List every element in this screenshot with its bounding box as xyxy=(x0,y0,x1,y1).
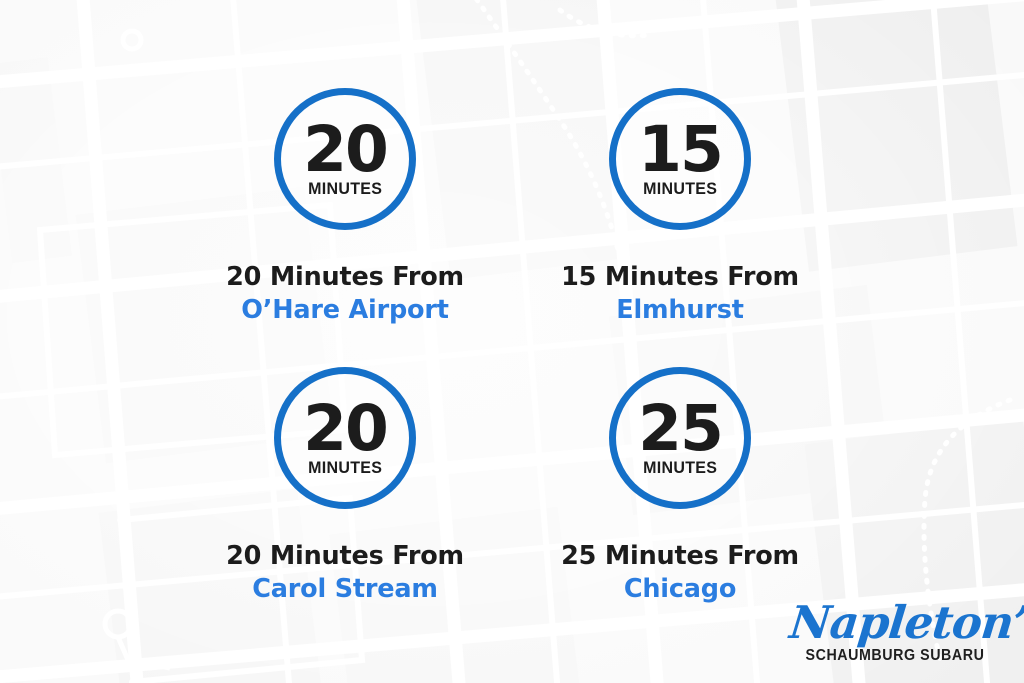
ring-unit-label: MINUTES xyxy=(643,459,717,478)
caption-secondary: Carol Stream xyxy=(180,575,510,605)
badge-caption: 15 Minutes From Elmhurst xyxy=(515,263,845,326)
ring-unit-label: MINUTES xyxy=(643,180,717,199)
badge-caption: 20 Minutes From Carol Stream xyxy=(180,542,510,605)
ring-unit-label: MINUTES xyxy=(308,459,382,478)
dealer-logo-subtitle: SCHAUMBURG SUBARU xyxy=(798,647,991,665)
caption-primary: 15 Minutes From xyxy=(515,263,845,293)
caption-primary: 25 Minutes From xyxy=(515,542,845,572)
badge-card: 25 MINUTES 25 Minutes From Chicago xyxy=(515,367,845,605)
caption-secondary: O’Hare Airport xyxy=(180,296,510,326)
badge-card: 20 MINUTES 20 Minutes From O’Hare Airpor… xyxy=(180,88,510,326)
badge-card: 20 MINUTES 20 Minutes From Carol Stream xyxy=(180,367,510,605)
minutes-ring-badge: 15 MINUTES xyxy=(609,88,751,230)
caption-primary: 20 Minutes From xyxy=(180,542,510,572)
minutes-ring-badge: 20 MINUTES xyxy=(274,367,416,509)
dealer-logo: Napleton’s SCHAUMBURG SUBARU xyxy=(790,600,1000,665)
dealer-logo-wordmark: Napleton’s xyxy=(788,600,1003,645)
badge-card: 15 MINUTES 15 Minutes From Elmhurst xyxy=(515,88,845,326)
badge-grid: 20 MINUTES 20 Minutes From O’Hare Airpor… xyxy=(0,0,1024,683)
ring-unit-label: MINUTES xyxy=(308,180,382,199)
ring-number: 15 xyxy=(638,123,722,177)
promo-graphic: 20 MINUTES 20 Minutes From O’Hare Airpor… xyxy=(0,0,1024,683)
ring-number: 20 xyxy=(303,402,387,456)
minutes-ring-badge: 25 MINUTES xyxy=(609,367,751,509)
caption-primary: 20 Minutes From xyxy=(180,263,510,293)
caption-secondary: Elmhurst xyxy=(515,296,845,326)
ring-number: 25 xyxy=(638,402,722,456)
badge-caption: 20 Minutes From O’Hare Airport xyxy=(180,263,510,326)
minutes-ring-badge: 20 MINUTES xyxy=(274,88,416,230)
ring-number: 20 xyxy=(303,123,387,177)
